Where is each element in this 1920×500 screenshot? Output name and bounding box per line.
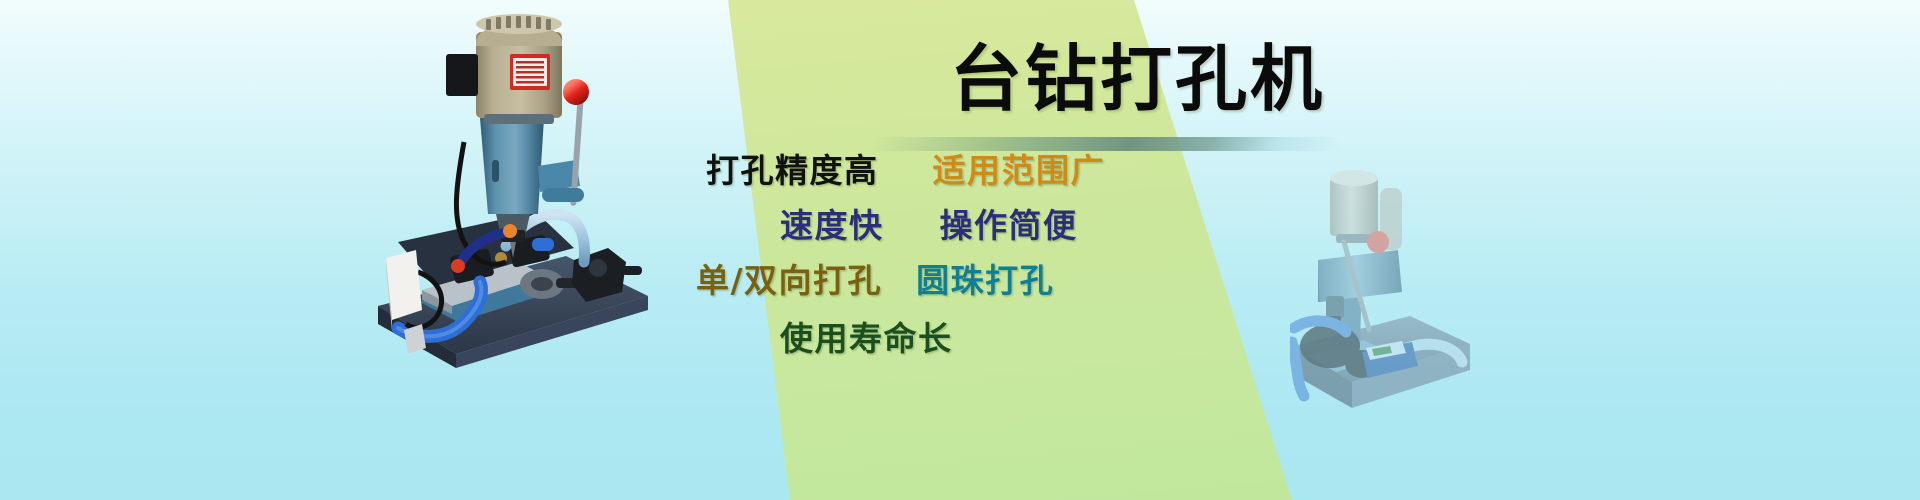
bench-drill-machine-main-image [360, 10, 660, 370]
feature-item-drilling-accuracy: 打孔精度高 [706, 144, 879, 192]
feature-item-long-service-life: 使用寿命长 [780, 312, 953, 360]
feature-item-ball-drilling: 圆珠打孔 [916, 254, 1054, 302]
feature-row-2: 速度快 操作简便 [690, 195, 1400, 251]
product-banner: 台钻打孔机 打孔精度高 适用范围广 速度快 操作简便 单/双向打孔 圆珠打孔 使… [0, 0, 1920, 500]
feature-list: 打孔精度高 适用范围广 速度快 操作简便 单/双向打孔 圆珠打孔 使用寿命长 [690, 140, 1310, 420]
feature-item-easy-operation: 操作简便 [940, 199, 1078, 247]
feature-row-1: 打孔精度高 适用范围广 [690, 140, 1326, 196]
feature-item-single-double-drilling: 单/双向打孔 [696, 254, 882, 302]
feature-item-fast-speed: 速度快 [780, 199, 884, 247]
feature-row-3: 单/双向打孔 圆珠打孔 [690, 250, 1316, 306]
banner-title: 台钻打孔机 [950, 40, 1325, 118]
feature-row-4: 使用寿命长 [690, 308, 1400, 364]
feature-item-wide-application: 适用范围广 [933, 144, 1106, 192]
